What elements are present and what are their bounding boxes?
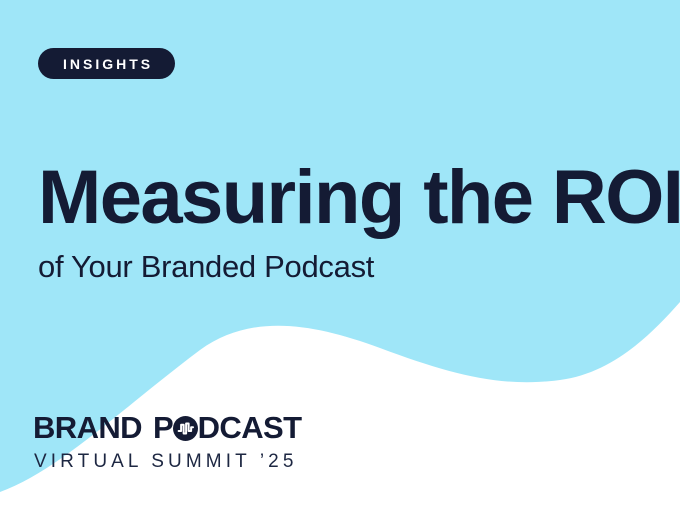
headline-block: Measuring the ROI of Your Branded Podcas… bbox=[38, 160, 658, 284]
brand-tagline: VIRTUAL SUMMIT ’25 bbox=[33, 452, 301, 471]
wordmark-dcast: DCAST bbox=[198, 412, 302, 443]
podcast-waveform-icon bbox=[173, 416, 198, 441]
page-subtitle: of Your Branded Podcast bbox=[38, 250, 658, 284]
wordmark-letter-p: P bbox=[153, 412, 173, 443]
page-title: Measuring the ROI bbox=[38, 160, 658, 236]
wordmark-brand: BRAND bbox=[33, 412, 142, 443]
presentation-slide: INSIGHTS Measuring the ROI of Your Brand… bbox=[0, 0, 680, 510]
brand-logo-lockup: BRAND P DCAST VIRTUAL SUMMIT ’25 bbox=[33, 412, 301, 471]
wave-shape bbox=[0, 302, 680, 510]
insights-badge: INSIGHTS bbox=[38, 48, 175, 79]
insights-badge-label: INSIGHTS bbox=[60, 57, 153, 71]
brand-wordmark: BRAND P DCAST bbox=[33, 412, 301, 443]
